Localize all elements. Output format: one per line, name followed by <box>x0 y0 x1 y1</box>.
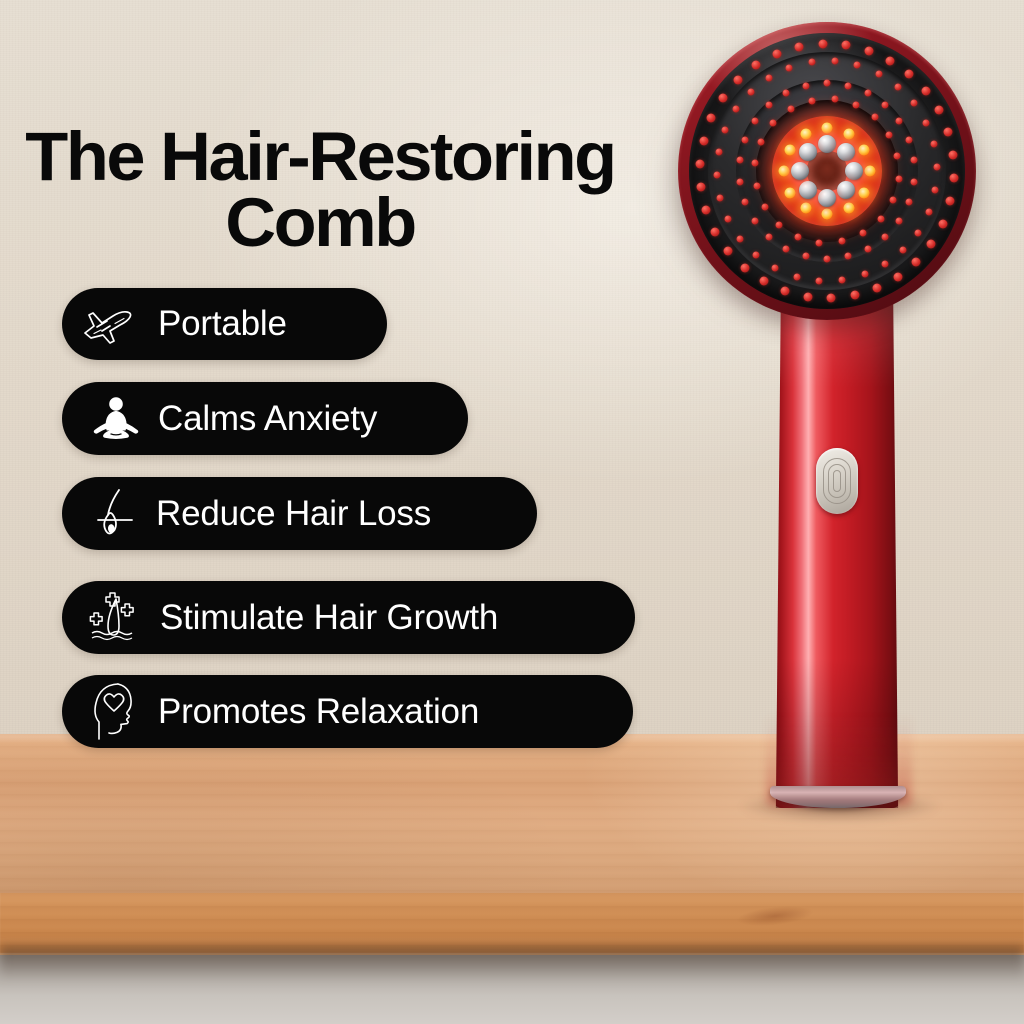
feature-label: Calms Anxiety <box>158 399 377 439</box>
hair-follicle-plus-icon <box>84 589 146 647</box>
wood-table-surface <box>0 734 1024 899</box>
feature-pill-reduce-hair-loss[interactable]: Reduce Hair Loss <box>62 477 537 550</box>
meditation-icon <box>90 396 142 442</box>
product-marketing-card: The Hair-Restoring Comb Portable <box>0 0 1024 1024</box>
head-heart-icon <box>88 681 144 743</box>
feature-label: Portable <box>158 304 287 344</box>
airplane-icon <box>80 304 136 344</box>
feature-pill-portable[interactable]: Portable <box>62 288 387 360</box>
page-title: The Hair-Restoring Comb <box>0 124 646 255</box>
feature-pill-calms-anxiety[interactable]: Calms Anxiety <box>62 382 468 455</box>
hair-follicle-icon <box>92 487 140 541</box>
feature-pill-promotes-relaxation[interactable]: Promotes Relaxation <box>62 675 633 748</box>
title-line-2: Comb <box>0 190 646 256</box>
feature-pill-stimulate-hair-growth[interactable]: Stimulate Hair Growth <box>62 581 635 654</box>
wood-table-edge <box>0 893 1024 955</box>
feature-label: Stimulate Hair Growth <box>160 598 498 638</box>
feature-label: Reduce Hair Loss <box>156 494 431 534</box>
feature-label: Promotes Relaxation <box>158 692 479 732</box>
